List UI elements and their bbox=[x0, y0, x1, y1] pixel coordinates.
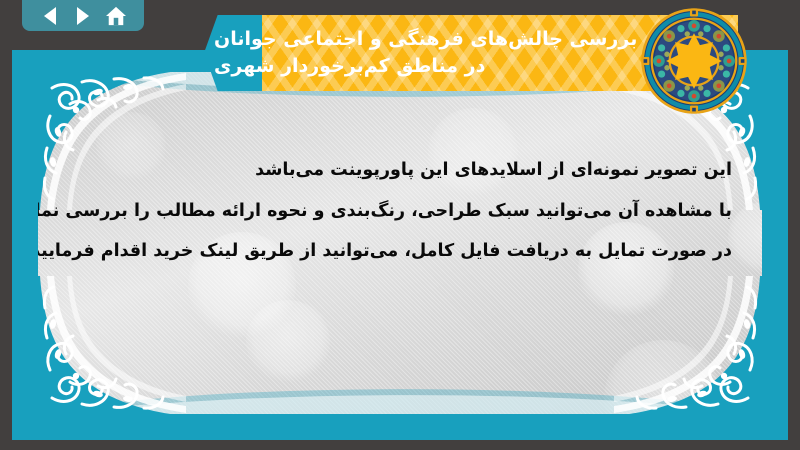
bokeh-circle bbox=[246, 300, 330, 384]
title-line-2: در مناطق کم‌برخوردار شهری bbox=[214, 53, 485, 80]
navigation-bar bbox=[22, 0, 144, 31]
title-line-1: بررسی چالش‌های فرهنگی و اجتماعی جوانان bbox=[214, 26, 637, 53]
title-banner: بررسی چالش‌های فرهنگی و اجتماعی جوانان د… bbox=[204, 15, 738, 91]
body-line-1: این تصویر نمونه‌ای از اسلایدهای این پاور… bbox=[64, 150, 732, 191]
forward-button[interactable] bbox=[72, 5, 94, 27]
persian-medallion bbox=[640, 7, 748, 115]
forward-arrow-icon bbox=[77, 7, 89, 25]
home-button[interactable] bbox=[105, 5, 127, 27]
slide-body-text: این تصویر نمونه‌ای از اسلایدهای این پاور… bbox=[64, 150, 732, 272]
slide-canvas: این تصویر نمونه‌ای از اسلایدهای این پاور… bbox=[38, 72, 762, 414]
body-line-3: در صورت تمایل به دریافت فایل کامل، می‌تو… bbox=[64, 231, 732, 272]
home-icon bbox=[105, 6, 127, 26]
back-button[interactable] bbox=[39, 5, 61, 27]
back-arrow-icon bbox=[44, 7, 56, 25]
body-line-2: با مشاهده آن می‌توانید سبک طراحی، رنگ‌بن… bbox=[64, 191, 732, 232]
